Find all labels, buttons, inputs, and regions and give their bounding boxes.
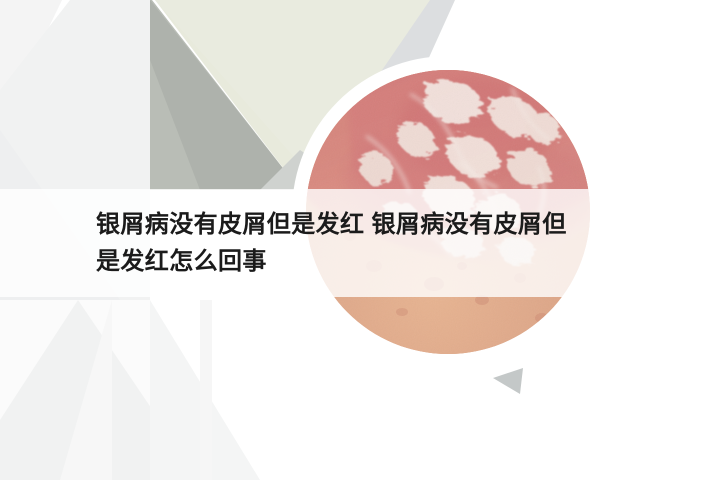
- caption-line-2: 是发红怎么回事: [96, 243, 636, 280]
- gray-triangle-accent-icon: [492, 366, 524, 396]
- caption-line-1: 银屑病没有皮屑但是发红 银屑病没有皮屑但: [96, 206, 636, 243]
- polygon-bottom-strip: [200, 300, 212, 480]
- caption-title: 银屑病没有皮屑但是发红 银屑病没有皮屑但 是发红怎么回事: [96, 189, 636, 297]
- screenshot-canvas: 银屑病没有皮屑但是发红 银屑病没有皮屑但 是发红怎么回事: [0, 0, 720, 480]
